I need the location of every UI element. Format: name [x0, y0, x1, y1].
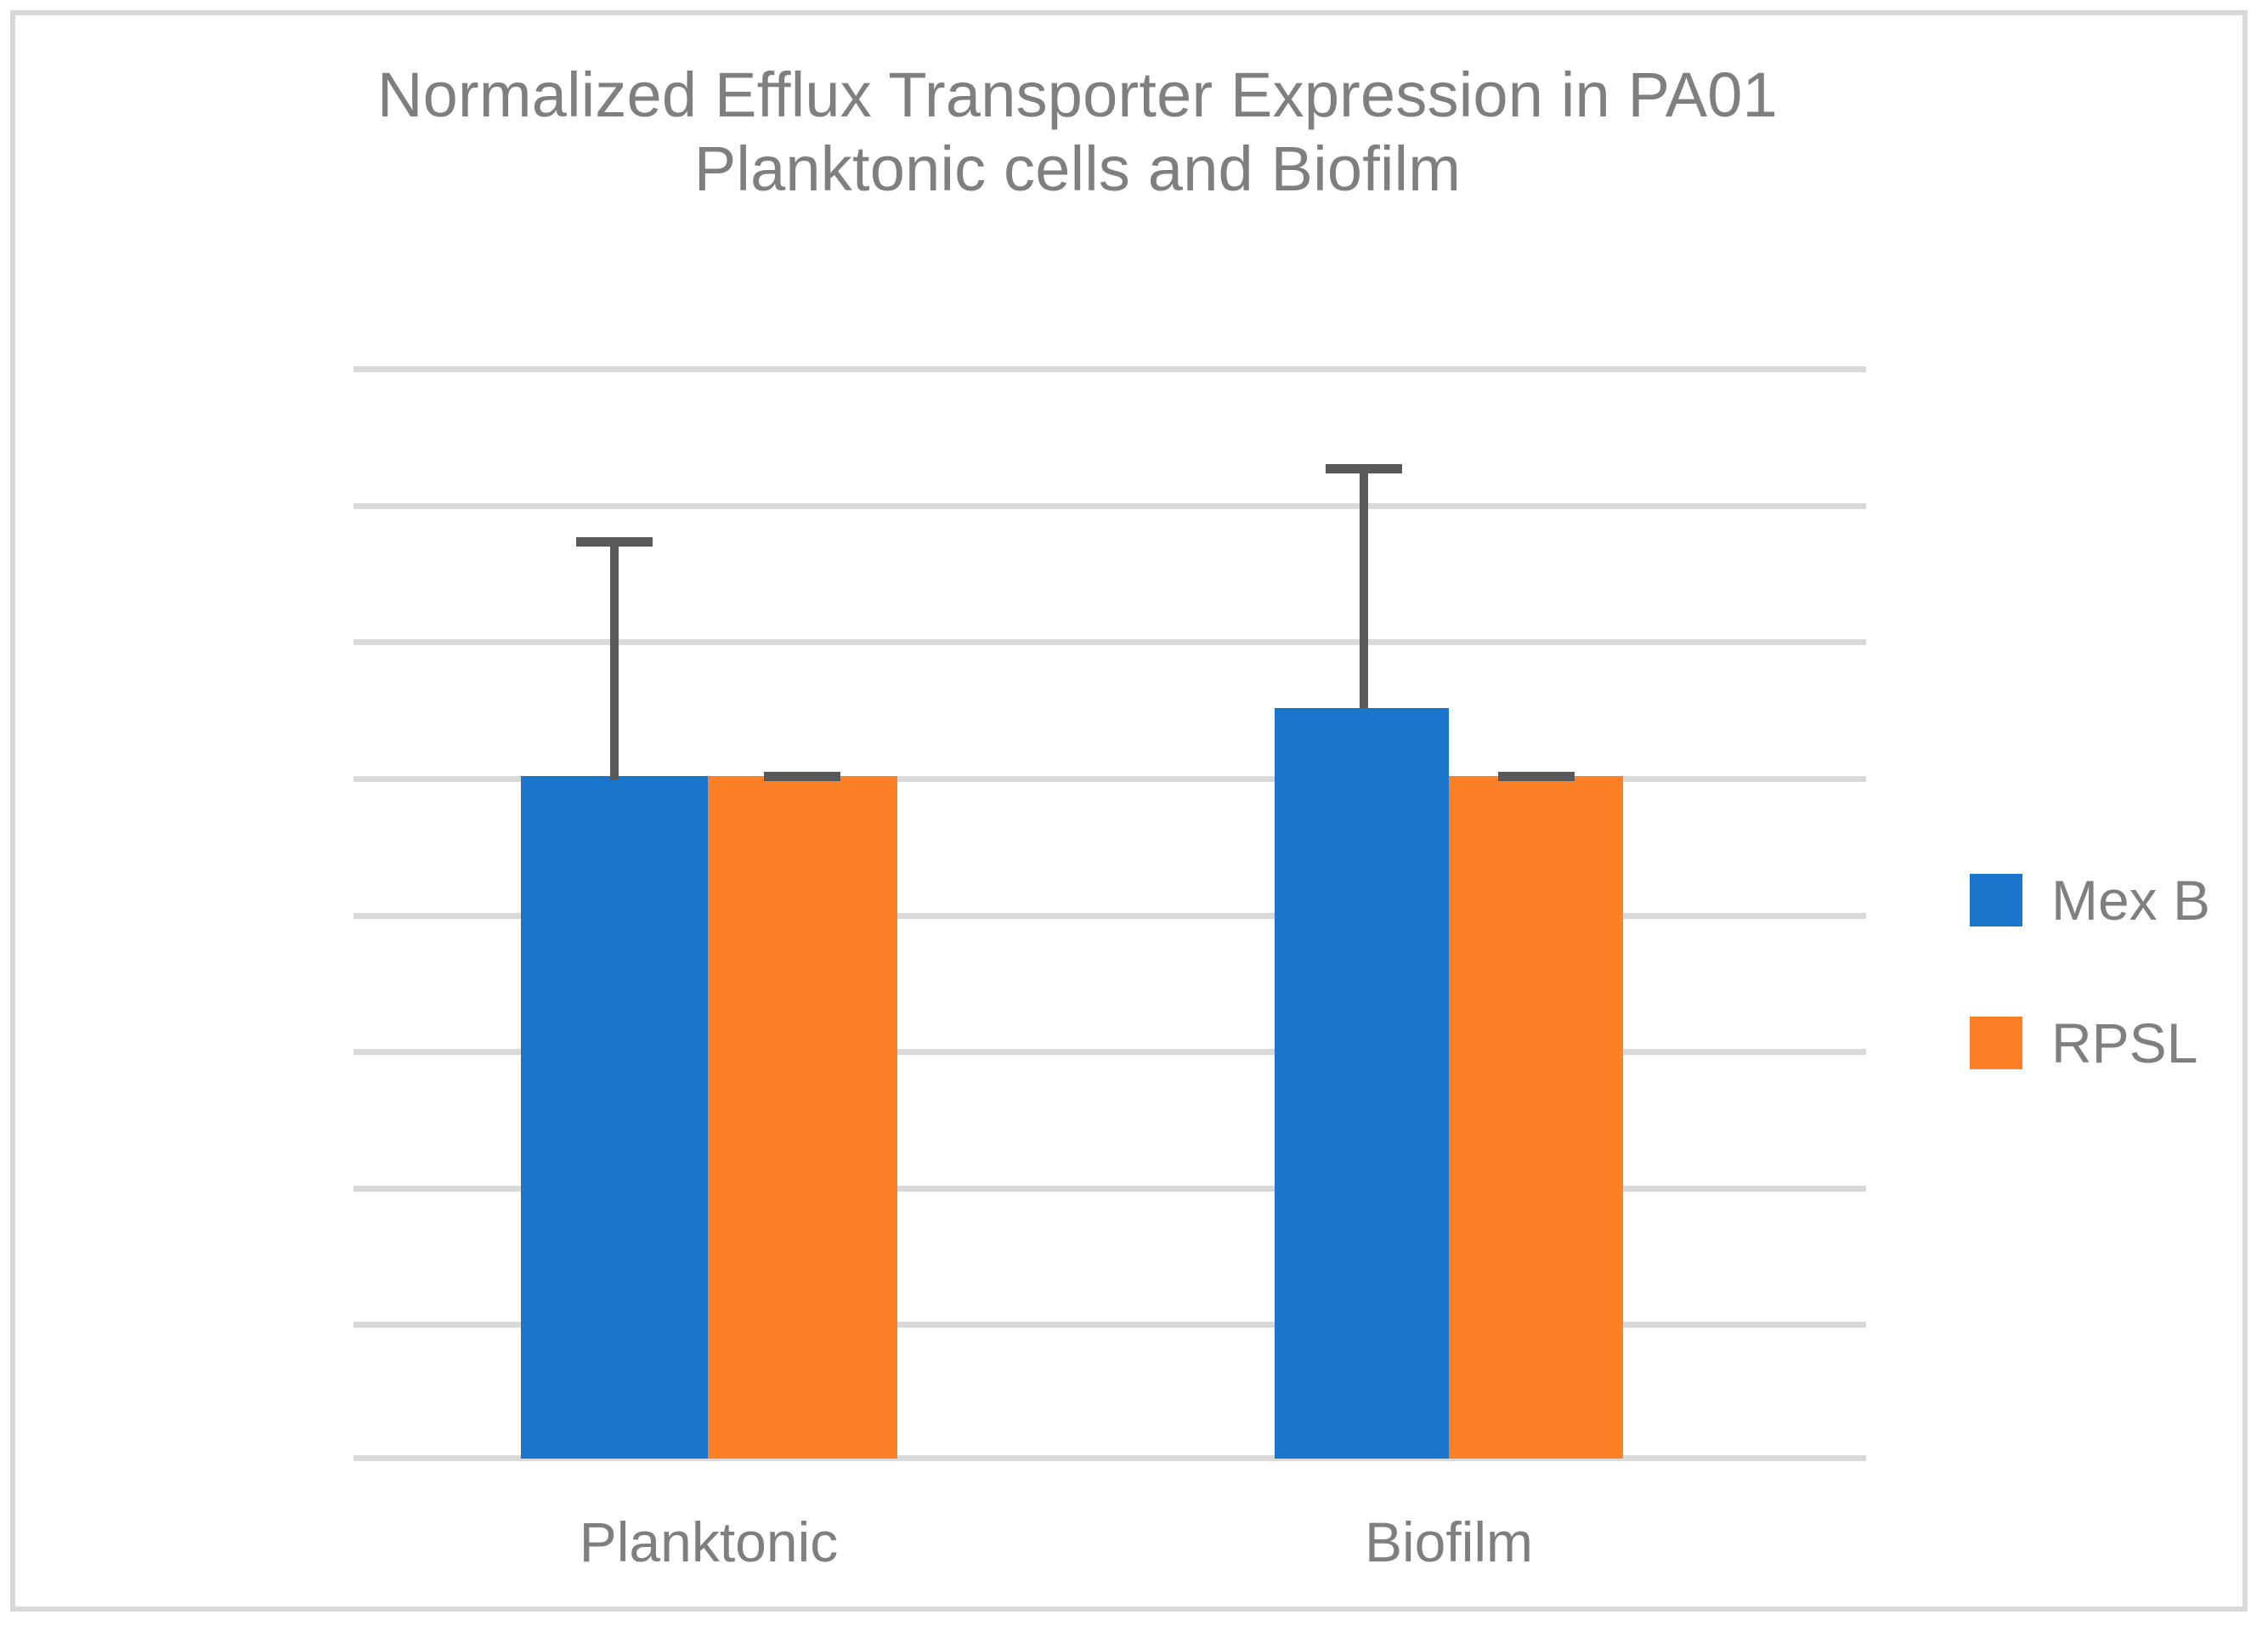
chart-frame: Normalized Efflux Transporter Expression…: [10, 10, 2248, 1612]
x-axis-label-planktonic: Planktonic: [580, 1510, 839, 1574]
errorbar-cap-top: [1326, 464, 1402, 473]
chart-title: Normalized Efflux Transporter Expression…: [202, 58, 1953, 207]
legend-item-rpsl[interactable]: RPSL: [1970, 1012, 2210, 1074]
gridline-1.6: [353, 366, 1866, 372]
plot-area: 1.6 1.4 1.2 1 0.8 0.6 0.4 0.2 0: [353, 366, 1866, 1459]
x-axis-label-biofilm: Biofilm: [1365, 1510, 1533, 1574]
errorbar-biofilm-rpsl: [1532, 772, 1541, 780]
bar-planktonic-rpsl: [708, 776, 897, 1459]
errorbar-cap-top: [764, 772, 840, 781]
legend-item-mexb[interactable]: Mex B: [1970, 870, 2210, 931]
chart-title-line-1: Normalized Efflux Transporter Expression…: [202, 58, 1953, 132]
gridline-1.2: [353, 639, 1866, 645]
errorbar-cap-top: [576, 537, 653, 547]
errorbar-cap-top: [1498, 772, 1575, 781]
legend-swatch-rpsl-icon: [1970, 1017, 2022, 1069]
bar-biofilm-rpsl: [1449, 776, 1623, 1459]
errorbar-planktonic-mexb: [610, 537, 619, 780]
legend-label-mexb: Mex B: [2051, 872, 2210, 928]
chart-title-line-2: Planktonic cells and Biofilm: [202, 132, 1953, 206]
bar-planktonic-mexb: [521, 776, 708, 1459]
chart-legend: Mex B RPSL: [1970, 870, 2210, 1155]
legend-swatch-mexb-icon: [1970, 874, 2022, 926]
bar-biofilm-mexb: [1275, 708, 1449, 1459]
errorbar-biofilm-mexb: [1360, 464, 1368, 708]
gridline-1.4: [353, 503, 1866, 509]
legend-label-rpsl: RPSL: [2051, 1015, 2197, 1071]
errorbar-planktonic-rpsl: [798, 772, 806, 780]
